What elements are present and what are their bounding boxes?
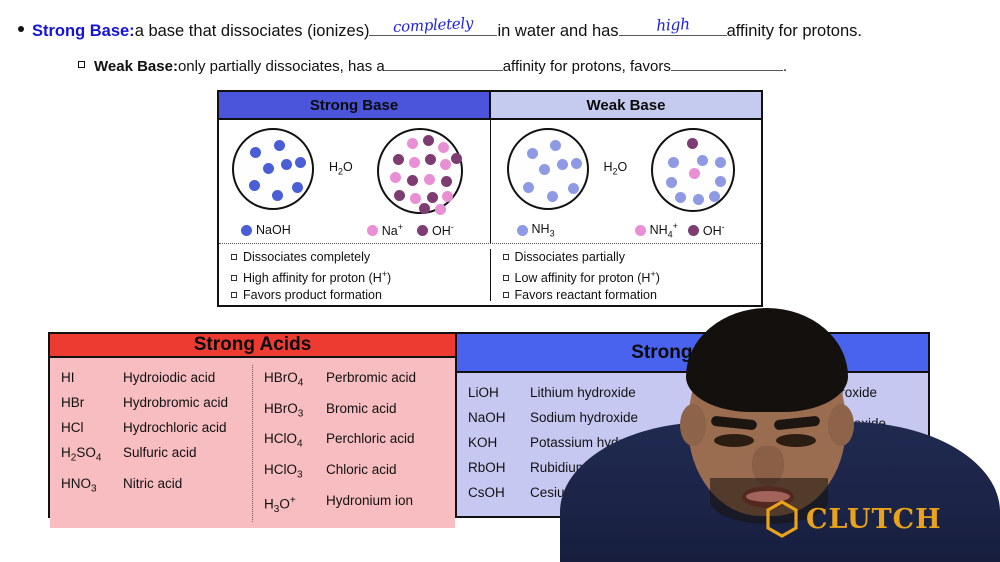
- strong-base-text-1: a base that dissociates (ionizes): [135, 22, 370, 41]
- legend-oh-label-weak: OH-: [703, 222, 725, 238]
- bullet-square-icon: [78, 61, 85, 68]
- legend-na-cation: Na+: [367, 222, 403, 238]
- strong-base-keyword: Strong Base:: [32, 22, 135, 41]
- strong-property-item: Dissociates completely: [231, 249, 490, 266]
- acid-name: Hydrochloric acid: [123, 415, 252, 440]
- base-formula: NaOH: [468, 405, 530, 430]
- acid-name: Chloric acid: [326, 457, 455, 488]
- strong-property-item: High affinity for proton (H+): [231, 266, 490, 287]
- strong-property-item: Favors product formation: [231, 287, 490, 304]
- base-formula: Sr(OH)2: [704, 411, 766, 442]
- checkbox-icon[interactable]: [231, 292, 237, 298]
- table-row: KOHPotassium hydroxide: [468, 430, 692, 455]
- nh3-particle: [550, 140, 561, 151]
- acid-formula: HBrO4: [264, 365, 326, 396]
- table-row: CsOHCesium hydroxide: [468, 480, 692, 505]
- na-cation-particle: [424, 174, 435, 185]
- oh-anion-particle: [425, 154, 436, 165]
- weak-base-reactant-beaker: [507, 128, 589, 210]
- acid-name: Perchloric acid: [326, 426, 455, 457]
- nh3-particle: [693, 194, 704, 205]
- strong-base-illustration: H2O: [219, 120, 491, 243]
- strong-base-blank-2[interactable]: high: [619, 35, 727, 36]
- naoh-particle: [292, 182, 303, 193]
- table-row: HNO3Nitric acid: [61, 471, 252, 502]
- legend-na-label: Na+: [382, 222, 403, 238]
- nh3-particle: [715, 176, 726, 187]
- strong-property-label: Dissociates completely: [243, 250, 370, 264]
- nh3-particle: [523, 182, 534, 193]
- acid-formula: HBr: [61, 390, 123, 415]
- oh-anion-swatch-icon: [688, 225, 699, 236]
- table-row: HBrO3Bromic acid: [264, 396, 455, 427]
- diagram-header-strong-base: Strong Base: [219, 92, 491, 118]
- checkbox-icon[interactable]: [503, 275, 509, 281]
- oh-anion-swatch-icon: [417, 225, 428, 236]
- handwritten-completely: completely: [393, 14, 474, 36]
- nh3-particle: [709, 191, 720, 202]
- na-cation-particle: [410, 193, 421, 204]
- table-row: Ba(OH)2Barium hydroxide: [704, 441, 928, 472]
- checkbox-icon[interactable]: [231, 275, 237, 281]
- nh3-particle: [571, 158, 582, 169]
- legend-nh4-cation: NH4+: [635, 221, 678, 240]
- acid-name: Sulfuric acid: [123, 440, 252, 471]
- na-cation-particle: [442, 191, 453, 202]
- nh4-cation-swatch-icon: [635, 225, 646, 236]
- acids-column-2: HBrO4Perbromic acid HBrO3Bromic acid HCl…: [253, 365, 455, 522]
- note-line-weak-base: Weak Base: only partially dissociates, h…: [78, 58, 787, 75]
- diagram-header-row: Strong Base Weak Base: [219, 92, 761, 120]
- oh-anion-particle: [423, 135, 434, 146]
- lecture-slide: Strong Base: a base that dissociates (io…: [0, 0, 1000, 562]
- naoh-particle: [249, 180, 260, 191]
- table-row: NaOHSodium hydroxide: [468, 405, 692, 430]
- oh-anion-particle: [407, 175, 418, 186]
- oh-anion-particle: [419, 203, 430, 214]
- note-line-strong-base: Strong Base: a base that dissociates (io…: [18, 22, 862, 41]
- acid-name: Bromic acid: [326, 396, 455, 427]
- oh-anion-particle: [393, 154, 404, 165]
- legend-naoh: NaOH: [241, 223, 291, 237]
- nh3-particle: [568, 183, 579, 194]
- base-name: Barium hydroxide: [766, 441, 928, 472]
- na-cation-swatch-icon: [367, 225, 378, 236]
- oh-anion-particle: [451, 153, 462, 164]
- strong-bases-table: Strong Bases LiOHLithium hydroxide NaOHS…: [457, 334, 928, 516]
- table-row: Sr(OH)2Strontium hydroxide: [704, 411, 928, 442]
- nh3-particle: [539, 164, 550, 175]
- table-row: HClO4Perchloric acid: [264, 426, 455, 457]
- base-formula: KOH: [468, 430, 530, 455]
- weak-property-item: Low affinity for proton (H+): [503, 266, 762, 287]
- base-name: Rubidium hydroxide: [530, 455, 692, 480]
- table-row: HClO3Chloric acid: [264, 457, 455, 488]
- naoh-particle: [250, 147, 261, 158]
- table-row: HBrHydrobromic acid: [61, 390, 252, 415]
- strong-acids-bases-tables: Strong Acids HIHydroiodic acid HBrHydrob…: [48, 332, 930, 518]
- weak-base-properties: Dissociates partially Low affinity for p…: [491, 249, 762, 301]
- legend-nh3-label: NH3: [532, 222, 555, 239]
- na-cation-particle: [390, 172, 401, 183]
- strong-acids-title: Strong Acids: [50, 334, 455, 358]
- oh-anion-particle: [441, 176, 452, 187]
- table-row: H3O+Hydronium ion: [264, 488, 455, 522]
- bases-column-2: Ca(OH)2Calcium hydroxide Sr(OH)2Strontiu…: [693, 380, 928, 510]
- legend-naoh-label: NaOH: [256, 223, 291, 237]
- naoh-particle: [263, 163, 274, 174]
- na-cation-particle: [409, 157, 420, 168]
- water-label-strong: H2O: [329, 160, 353, 177]
- na-cation-particle: [438, 142, 449, 153]
- acid-formula: HI: [61, 365, 123, 390]
- acid-formula: HClO3: [264, 457, 326, 488]
- weak-property-label: Favors reactant formation: [515, 288, 657, 302]
- base-formula: Ba(OH)2: [704, 441, 766, 472]
- weak-base-blank-1[interactable]: [385, 70, 503, 71]
- table-row: Ca(OH)2Calcium hydroxide: [704, 380, 928, 411]
- checkbox-icon[interactable]: [503, 254, 509, 260]
- table-row: HIHydroiodic acid: [61, 365, 252, 390]
- na-cation-particle: [435, 204, 446, 215]
- base-formula: Ca(OH)2: [704, 380, 766, 411]
- legend-nh4-label: NH4+: [650, 221, 678, 240]
- strong-acids-table: Strong Acids HIHydroiodic acid HBrHydrob…: [50, 334, 457, 516]
- legend-nh3: NH3: [517, 222, 555, 239]
- naoh-particle: [281, 159, 292, 170]
- strong-base-properties: Dissociates completely High affinity for…: [219, 249, 491, 301]
- nh4-cation-particle: [689, 168, 700, 179]
- nh3-particle: [697, 155, 708, 166]
- base-formula: LiOH: [468, 380, 530, 405]
- nh3-particle: [557, 159, 568, 170]
- strong-bases-body: LiOHLithium hydroxide NaOHSodium hydroxi…: [457, 373, 928, 516]
- legend-oh-anion-weak: OH-: [688, 222, 725, 238]
- nh3-particle: [668, 157, 679, 168]
- base-name: Sodium hydroxide: [530, 405, 692, 430]
- diagram-header-weak-base: Weak Base: [491, 92, 761, 118]
- legend-oh-anion: OH-: [417, 222, 454, 238]
- strong-base-blank-1[interactable]: completely: [369, 35, 497, 36]
- naoh-particle: [272, 190, 283, 201]
- acid-formula: HClO4: [264, 426, 326, 457]
- acid-formula: HNO3: [61, 471, 123, 502]
- base-formula: RbOH: [468, 455, 530, 480]
- acid-formula: HBrO3: [264, 396, 326, 427]
- weak-property-item: Dissociates partially: [503, 249, 762, 266]
- acid-formula: HCl: [61, 415, 123, 440]
- base-comparison-diagram: Strong Base Weak Base H2O: [217, 90, 763, 307]
- table-row: HBrO4Perbromic acid: [264, 365, 455, 396]
- nh3-particle: [666, 177, 677, 188]
- strong-base-text-2: in water and has: [497, 22, 618, 41]
- weak-base-blank-2[interactable]: [671, 70, 783, 71]
- strong-base-text-3: affinity for protons.: [727, 22, 862, 41]
- base-name: Calcium hydroxide: [766, 380, 928, 411]
- base-name: Lithium hydroxide: [530, 380, 692, 405]
- checkbox-icon[interactable]: [503, 292, 509, 298]
- bases-column-1: LiOHLithium hydroxide NaOHSodium hydroxi…: [457, 380, 693, 510]
- strong-bases-title: Strong Bases: [457, 334, 928, 373]
- nh3-swatch-icon: [517, 225, 528, 236]
- table-row: LiOHLithium hydroxide: [468, 380, 692, 405]
- acid-name: Nitric acid: [123, 471, 252, 502]
- acid-name: Hydroiodic acid: [123, 365, 252, 390]
- weak-base-legend: NH3 NH4+ OH-: [491, 217, 762, 243]
- table-row: RbOHRubidium hydroxide: [468, 455, 692, 480]
- weak-property-label: Dissociates partially: [515, 250, 625, 264]
- strong-base-legend: NaOH Na+ OH-: [219, 217, 490, 243]
- weak-base-illustration: H2O NH3: [491, 120, 762, 243]
- weak-base-text-3: .: [783, 58, 787, 75]
- weak-base-keyword: Weak Base:: [94, 58, 178, 75]
- naoh-swatch-icon: [241, 225, 252, 236]
- diagram-property-row: Dissociates completely High affinity for…: [219, 243, 761, 305]
- acid-formula: H3O+: [264, 488, 326, 522]
- naoh-particle: [274, 140, 285, 151]
- legend-oh-label: OH-: [432, 222, 454, 238]
- oh-anion-particle: [687, 138, 698, 149]
- water-label-weak: H2O: [604, 160, 628, 177]
- strong-base-reactant-beaker: [232, 128, 314, 210]
- nh3-particle: [547, 191, 558, 202]
- base-formula: CsOH: [468, 480, 530, 505]
- na-cation-particle: [440, 159, 451, 170]
- base-name: Cesium hydroxide: [530, 480, 692, 505]
- weak-base-product-beaker: [651, 128, 735, 212]
- base-name: Strontium hydroxide: [766, 411, 928, 442]
- strong-base-product-beaker: [377, 128, 463, 214]
- strong-property-label: Favors product formation: [243, 288, 382, 302]
- acid-name: Hydrobromic acid: [123, 390, 252, 415]
- nh3-particle: [527, 148, 538, 159]
- bullet-dot-icon: [18, 26, 24, 32]
- diagram-illustration-row: H2O: [219, 120, 761, 243]
- acid-formula: H2SO4: [61, 440, 123, 471]
- weak-base-text-1: only partially dissociates, has a: [178, 58, 385, 75]
- na-cation-particle: [407, 138, 418, 149]
- base-name: Potassium hydroxide: [530, 430, 692, 455]
- acid-name: Hydronium ion: [326, 488, 455, 522]
- nh3-particle: [715, 157, 726, 168]
- oh-anion-particle: [394, 190, 405, 201]
- table-row: HClHydrochloric acid: [61, 415, 252, 440]
- acids-column-1: HIHydroiodic acid HBrHydrobromic acid HC…: [50, 365, 253, 522]
- handwritten-high: high: [655, 15, 690, 35]
- weak-property-item: Favors reactant formation: [503, 287, 762, 304]
- weak-base-text-2: affinity for protons, favors: [503, 58, 671, 75]
- checkbox-icon[interactable]: [231, 254, 237, 260]
- strong-acids-body: HIHydroiodic acid HBrHydrobromic acid HC…: [50, 358, 455, 528]
- acid-name: Perbromic acid: [326, 365, 455, 396]
- nh3-particle: [675, 192, 686, 203]
- naoh-particle: [295, 157, 306, 168]
- oh-anion-particle: [427, 192, 438, 203]
- table-row: H2SO4Sulfuric acid: [61, 440, 252, 471]
